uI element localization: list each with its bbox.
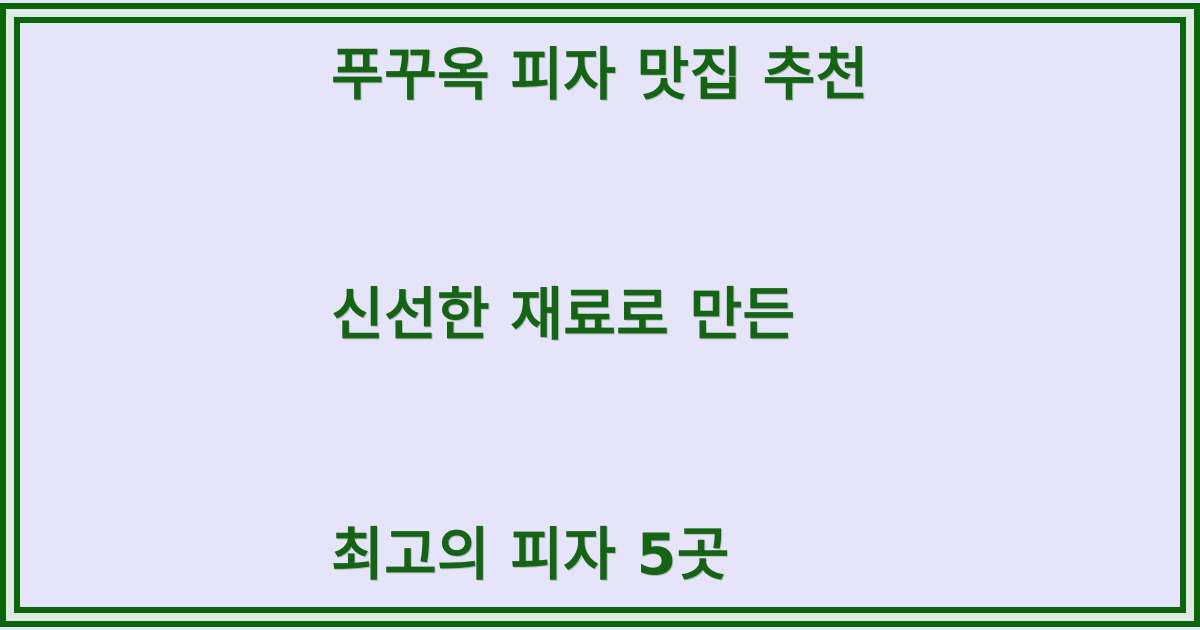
headline-line-3: 최고의 피자 5곳 (331, 515, 869, 595)
headline-line-2: 신선한 재료로 만든 (331, 275, 869, 355)
headline-container: 푸꾸옥 피자 맛집 추천 신선한 재료로 만든 최고의 피자 5곳 (0, 0, 1200, 630)
page-title: 푸꾸옥 피자 맛집 추천 신선한 재료로 만든 최고의 피자 5곳 (331, 0, 869, 630)
headline-line-1: 푸꾸옥 피자 맛집 추천 (331, 35, 869, 115)
banner-card: 푸꾸옥 피자 맛집 추천 신선한 재료로 만든 최고의 피자 5곳 (0, 0, 1200, 630)
